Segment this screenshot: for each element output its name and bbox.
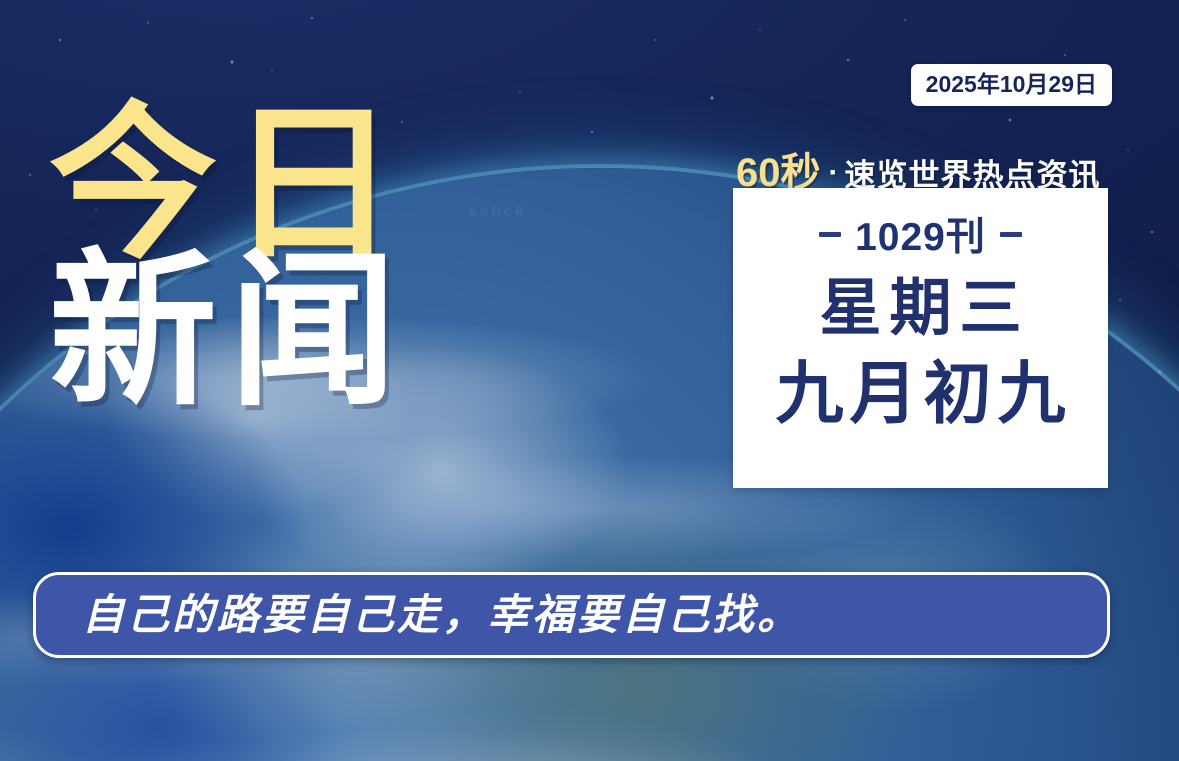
issue-info-card: 1029刊 星期三 九月初九 [733,188,1108,488]
issue-number: 1029刊 [855,206,986,262]
brand-title: 今日 新闻 [49,104,479,413]
quote-text: 自己的路要自己走，幸福要自己找。 [82,594,802,636]
issue-dash-right-icon [1000,232,1022,237]
brand-title-line-2: 新闻 [49,251,479,412]
news-poster: sabck 2025年10月29日 今日 新闻 60秒 · 速览世界热点资讯 1… [0,0,1179,761]
issue-dash-left-icon [819,232,841,237]
quote-banner: 自己的路要自己走，幸福要自己找。 [33,572,1110,658]
tagline-separator-dot: · [821,156,845,190]
weekday-label: 星期三 [811,276,1029,341]
issue-number-row: 1029刊 [819,206,1022,262]
lunar-date-label: 九月初九 [769,359,1071,430]
date-badge: 2025年10月29日 [911,64,1112,106]
